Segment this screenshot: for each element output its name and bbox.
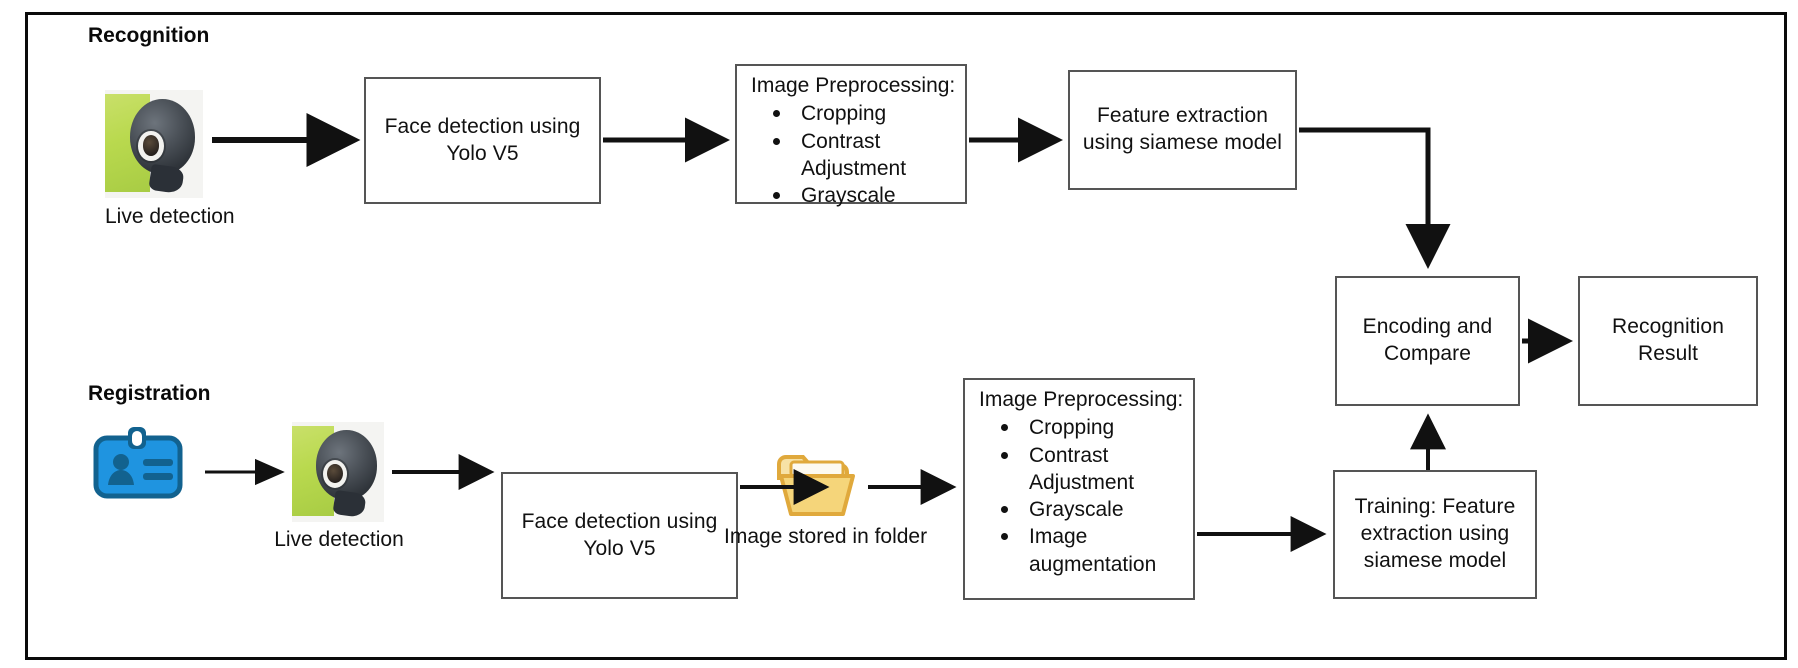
node-face-detection-recognition-label: Face detection using Yolo V5 <box>366 112 599 170</box>
node-feature-extraction-recognition-label: Feature extraction using siamese model <box>1070 101 1295 159</box>
preprocessing-item: Grayscale <box>773 182 959 209</box>
node-feature-extraction-recognition[interactable]: Feature extraction using siamese model <box>1068 70 1297 190</box>
node-face-detection-registration-label: Face detection using Yolo V5 <box>503 507 736 565</box>
node-training-feature-extraction[interactable]: Training: Feature extraction using siame… <box>1333 470 1537 599</box>
node-face-detection-registration[interactable]: Face detection using Yolo V5 <box>501 472 738 599</box>
id-card-icon <box>92 424 184 502</box>
node-encoding-and-compare-label: Encoding and Compare <box>1337 312 1518 370</box>
node-recognition-result[interactable]: Recognition Result <box>1578 276 1758 406</box>
webcam-lens <box>143 135 160 156</box>
preprocessing-item: Contrast <box>773 128 959 155</box>
preprocessing-list-registration: Cropping Contrast Adjustment Grayscale I… <box>975 414 1187 578</box>
section-title-registration: Registration <box>88 382 211 406</box>
node-encoding-and-compare[interactable]: Encoding and Compare <box>1335 276 1520 406</box>
preprocessing-item: Adjustment <box>773 155 959 182</box>
node-image-preprocessing-registration[interactable]: Image Preprocessing: Cropping Contrast A… <box>963 378 1195 600</box>
caption-live-detection-recognition: Live detection <box>105 205 285 229</box>
preprocessing-item: augmentation <box>1001 551 1187 578</box>
preprocessing-list-recognition: Cropping Contrast Adjustment Grayscale <box>747 100 959 209</box>
node-image-preprocessing-recognition[interactable]: Image Preprocessing: Cropping Contrast A… <box>735 64 967 204</box>
folder-icon <box>775 450 857 522</box>
preprocessing-title-registration: Image Preprocessing: <box>979 386 1187 413</box>
preprocessing-title-recognition: Image Preprocessing: <box>751 72 959 99</box>
caption-live-detection-registration: Live detection <box>268 528 410 552</box>
node-recognition-result-label: Recognition Result <box>1580 312 1756 370</box>
node-training-feature-extraction-label: Training: Feature extraction using siame… <box>1335 492 1535 577</box>
caption-image-stored-in-folder: Image stored in folder <box>724 524 908 550</box>
preprocessing-item: Image <box>1001 523 1187 550</box>
live-detection-photo-registration <box>292 422 384 522</box>
preprocessing-item: Cropping <box>773 100 959 127</box>
live-detection-photo-recognition <box>105 90 203 198</box>
preprocessing-item: Adjustment <box>1001 469 1187 496</box>
preprocessing-item: Grayscale <box>1001 496 1187 523</box>
node-face-detection-recognition[interactable]: Face detection using Yolo V5 <box>364 77 601 204</box>
diagram-canvas: Recognition Live detection Face detectio… <box>0 0 1798 668</box>
preprocessing-item: Contrast <box>1001 442 1187 469</box>
preprocessing-item: Cropping <box>1001 414 1187 441</box>
section-title-recognition: Recognition <box>88 24 209 48</box>
webcam-lens <box>327 464 343 483</box>
